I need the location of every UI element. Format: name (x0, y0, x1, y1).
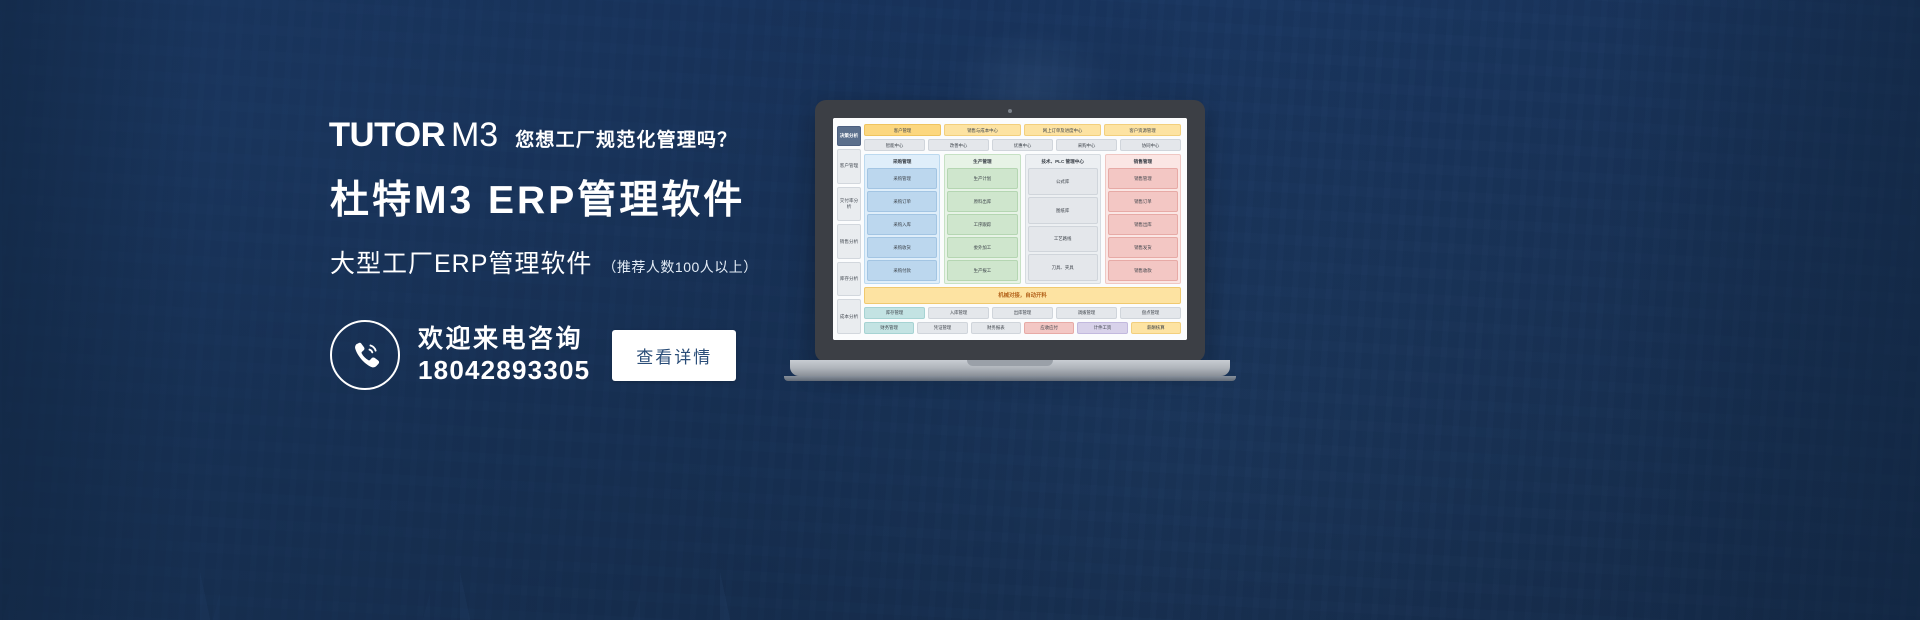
diagram-chip: 财务报表 (971, 322, 1021, 334)
diagram-columns: 采购管理采购管理采购订单采购入库采购收货采购付款生产管理生产计划原料出库工序跟踪… (864, 154, 1181, 284)
diagram-chip: 协同中心 (1120, 139, 1181, 151)
laptop-lid: 决策分析客户管理交付率分析销售分析库存分析成本分析 客户管理销售与成本中心网上订… (815, 100, 1205, 362)
diagram-chip: 智能中心 (864, 139, 925, 151)
diagram-chip: 出库管理 (992, 307, 1053, 319)
brand-tagline: 您想工厂规范化管理吗？ (515, 131, 737, 150)
hero-text-block: TUTOR M3 您想工厂规范化管理吗？ 杜特M3 ERP管理软件 大型工厂ER… (330, 118, 850, 280)
laptop-mockup: 决策分析客户管理交付率分析销售分析库存分析成本分析 客户管理销售与成本中心网上订… (790, 100, 1230, 400)
background-left-vignette (0, 0, 200, 620)
diagram-column-title: 生产管理 (947, 157, 1017, 166)
diagram-chip: 库存管理 (864, 307, 925, 319)
view-details-button[interactable]: 查看详情 (612, 330, 736, 381)
diagram-column-title: 销售管理 (1108, 157, 1178, 166)
diagram-chip: 盘点管理 (1120, 307, 1181, 319)
webcam-dot (1008, 109, 1012, 113)
hero-subtitle-note: （推荐人数100人以上） (602, 257, 757, 277)
diagram-chip: 凭证管理 (917, 322, 967, 334)
diagram-chip: 改善中心 (928, 139, 989, 151)
diagram-column-item: 销售管理 (1108, 168, 1178, 189)
diagram-chip: 财务管理 (864, 322, 914, 334)
diagram-column-item: 采购收货 (867, 237, 937, 258)
diagram-chip: 销售与成本中心 (944, 124, 1021, 136)
logo-wordmark-tutor: TUTOR (329, 118, 445, 152)
diagram-column-item: 采购订单 (867, 191, 937, 212)
diagram-band-bottom: 库存管理入库管理出库管理调拨管理盘点管理 (864, 307, 1181, 319)
diagram-column-item: 采购入库 (867, 214, 937, 235)
diagram-chip: 应收应付 (1024, 322, 1074, 334)
diagram-column-item: 图纸库 (1028, 197, 1098, 224)
diagram-chip: 客户资源管理 (1104, 124, 1181, 136)
phone-call-icon[interactable] (330, 320, 400, 390)
logo-wordmark-m3: M3 (451, 118, 498, 152)
diagram-column-title: 采购管理 (867, 157, 937, 166)
diagram-band-second: 智能中心改善中心优惠中心采购中心协同中心 (864, 139, 1181, 151)
diagram-column-item: 销售收款 (1108, 260, 1178, 281)
diagram-column: 生产管理生产计划原料出库工序跟踪委外加工生产报工 (944, 154, 1020, 284)
diagram-column-item: 刀具、夹具 (1028, 254, 1098, 281)
diagram-column-item: 采购付款 (867, 260, 937, 281)
diagram-column-item: 生产计划 (947, 168, 1017, 189)
diagram-main: 客户管理销售与成本中心网上订单及进度中心客户资源管理 智能中心改善中心优惠中心采… (864, 124, 1181, 334)
diagram-chip: 客户管理 (864, 124, 941, 136)
background-right-vignette (1600, 0, 1920, 620)
diagram-column-item: 销售订单 (1108, 191, 1178, 212)
laptop-screen: 决策分析客户管理交付率分析销售分析库存分析成本分析 客户管理销售与成本中心网上订… (833, 118, 1187, 340)
diagram-chip: 采购中心 (1056, 139, 1117, 151)
hero-subtitle: 大型工厂ERP管理软件 (330, 244, 592, 280)
diagram-column-item: 工序跟踪 (947, 214, 1017, 235)
contact-phone-number[interactable]: 18042893305 (418, 356, 590, 384)
diagram-column-title: 技术、PLC 管理中心 (1028, 157, 1098, 166)
laptop-foot (784, 376, 1236, 381)
diagram-column-item: 原料出库 (947, 191, 1017, 212)
hero-subtitle-row: 大型工厂ERP管理软件 （推荐人数100人以上） (330, 244, 850, 280)
diagram-column: 技术、PLC 管理中心公式库图纸库工艺路线刀具、夹具 (1025, 154, 1101, 284)
diagram-rail-item: 成本分析 (837, 299, 861, 334)
laptop-notch (967, 360, 1053, 366)
contact-text: 欢迎来电咨询 18042893305 (418, 326, 590, 384)
diagram-chip: 调拨管理 (1056, 307, 1117, 319)
diagram-column-item: 工艺路线 (1028, 226, 1098, 253)
diagram-column-item: 销售出库 (1108, 214, 1178, 235)
diagram-column: 采购管理采购管理采购订单采购入库采购收货采购付款 (864, 154, 940, 284)
diagram-column-item: 生产报工 (947, 260, 1017, 281)
diagram-band-top: 客户管理销售与成本中心网上订单及进度中心客户资源管理 (864, 124, 1181, 136)
diagram-chip: 优惠中心 (992, 139, 1053, 151)
page-title: 杜特M3 ERP管理软件 (330, 180, 850, 222)
erp-architecture-diagram: 决策分析客户管理交付率分析销售分析库存分析成本分析 客户管理销售与成本中心网上订… (833, 118, 1187, 340)
diagram-column-item: 采购管理 (867, 168, 937, 189)
contact-block: 欢迎来电咨询 18042893305 查看详情 (330, 320, 736, 390)
diagram-chip: 薪酬核算 (1131, 322, 1181, 334)
diagram-column-item: 销售发货 (1108, 237, 1178, 258)
diagram-column-item: 委外加工 (947, 237, 1017, 258)
diagram-column: 销售管理销售管理销售订单销售出库销售发货销售收款 (1105, 154, 1181, 284)
diagram-chip: 入库管理 (928, 307, 989, 319)
diagram-chip: 网上订单及进度中心 (1024, 124, 1101, 136)
contact-label: 欢迎来电咨询 (418, 326, 590, 353)
diagram-band-footer: 财务管理凭证管理财务报表应收应付计件工资薪酬核算 (864, 322, 1181, 334)
diagram-chip: 计件工资 (1077, 322, 1127, 334)
diagram-column-item: 公式库 (1028, 168, 1098, 195)
diagram-highlight-banner: 机械对接，自动开料 (864, 287, 1181, 304)
brand-logo: TUTOR M3 您想工厂规范化管理吗？ (330, 118, 850, 156)
hero-banner: TUTOR M3 您想工厂规范化管理吗？ 杜特M3 ERP管理软件 大型工厂ER… (0, 0, 1920, 620)
